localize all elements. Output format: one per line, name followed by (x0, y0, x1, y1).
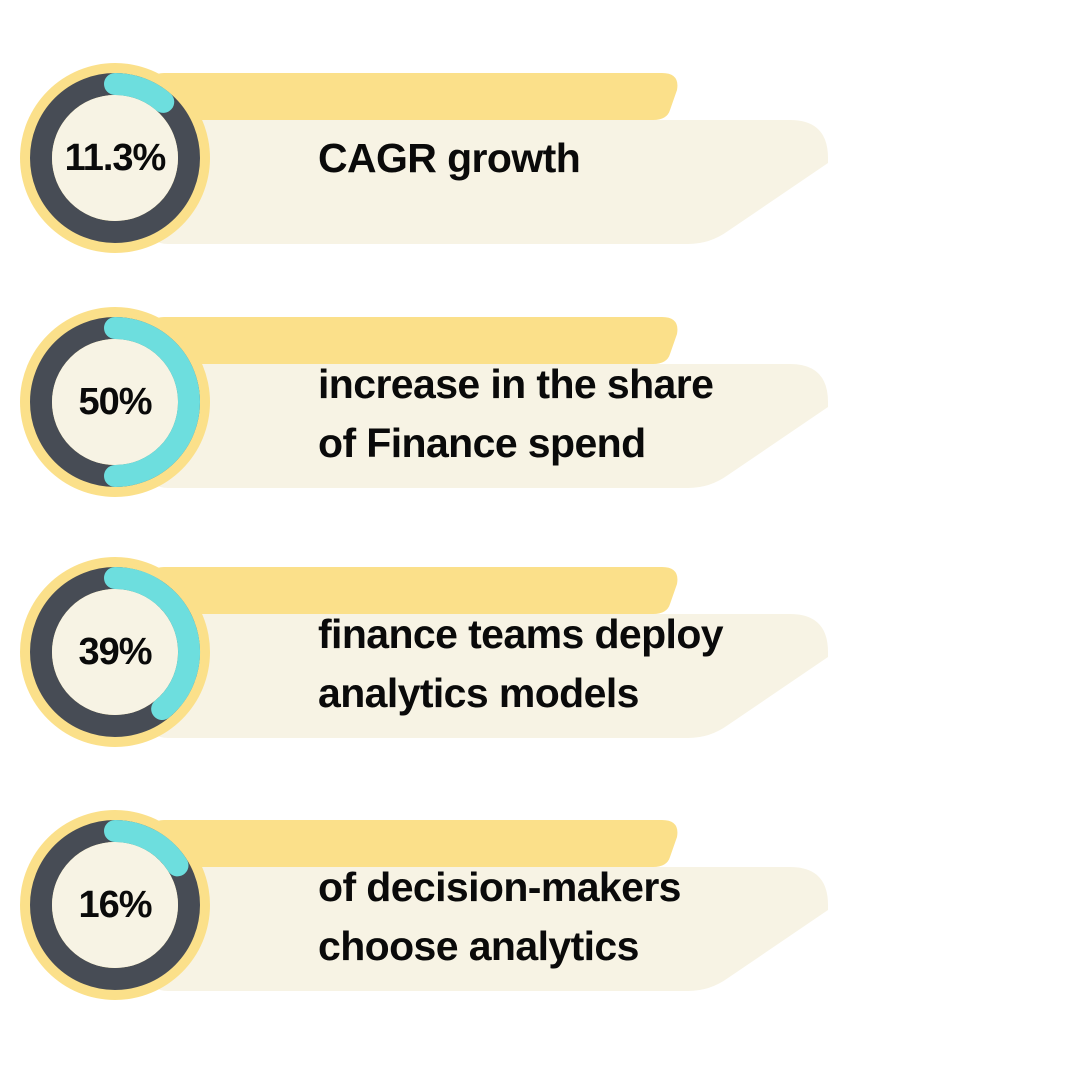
gauge-value-text: 50% (20, 307, 210, 497)
donut-gauge: 11.3% (20, 63, 210, 253)
stat-card: finance teams deploy analytics models39% (0, 557, 1080, 747)
stat-card: of decision-makers choose analytics16% (0, 810, 1080, 1000)
donut-gauge: 50% (20, 307, 210, 497)
donut-gauge: 16% (20, 810, 210, 1000)
stat-card: CAGR growth11.3% (0, 63, 1080, 253)
stat-card: increase in the share of Finance spend50… (0, 307, 1080, 497)
stats-list: CAGR growth11.3%increase in the share of… (0, 0, 1080, 1080)
gauge-value-text: 11.3% (20, 63, 210, 253)
stat-label: finance teams deploy analytics models (318, 605, 838, 723)
banner-tab (150, 73, 677, 120)
gauge-value-text: 16% (20, 810, 210, 1000)
donut-gauge: 39% (20, 557, 210, 747)
stat-label: increase in the share of Finance spend (318, 355, 838, 473)
stat-label: CAGR growth (318, 129, 838, 188)
gauge-value-text: 39% (20, 557, 210, 747)
stat-label: of decision-makers choose analytics (318, 858, 838, 976)
